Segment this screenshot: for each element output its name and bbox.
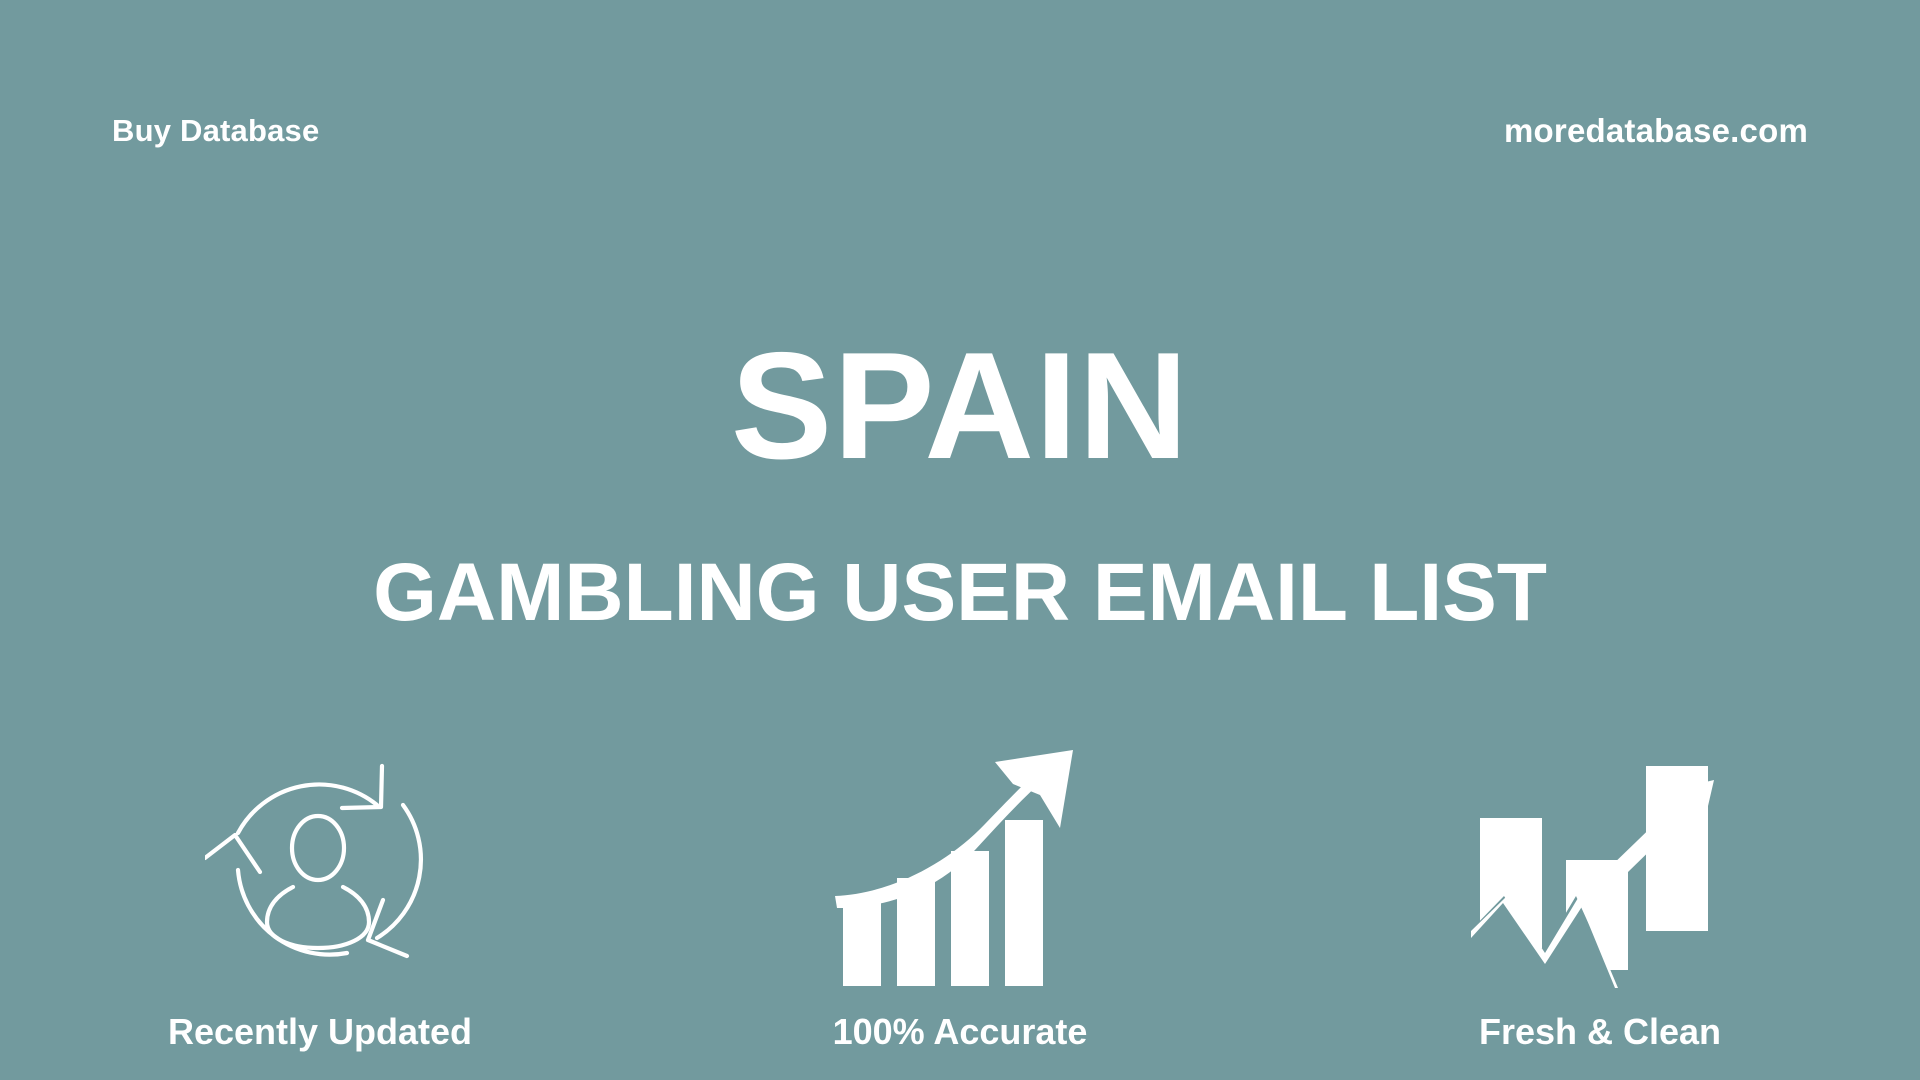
feature-row: Recently Updated: [0, 690, 1920, 1050]
recycle-person-icon: [205, 748, 435, 988]
feature-label-accurate: 100% Accurate: [833, 1014, 1088, 1050]
page-title: SPAIN: [0, 330, 1920, 482]
banner-header: Buy Database moredatabase.com: [0, 104, 1920, 156]
feature-icon-wrapper: [835, 738, 1085, 988]
feature-item-recently-updated: Recently Updated: [85, 738, 555, 1050]
feature-icon-wrapper: [1468, 738, 1733, 988]
feature-item-fresh-clean: Fresh & Clean: [1365, 738, 1835, 1050]
page-subtitle: GAMBLING USER EMAIL LIST: [0, 552, 1920, 634]
hero-title-block: SPAIN GAMBLING USER EMAIL LIST: [0, 330, 1920, 634]
feature-label-fresh-clean: Fresh & Clean: [1479, 1014, 1721, 1050]
bar-chart-zigzag-arrow-icon: [1468, 748, 1733, 988]
growth-bar-chart-arrow-icon: [835, 748, 1085, 988]
brand-label: Buy Database: [112, 115, 319, 146]
promo-banner: Buy Database moredatabase.com SPAIN GAMB…: [0, 0, 1920, 1080]
feature-icon-wrapper: [205, 738, 435, 988]
feature-label-recently-updated: Recently Updated: [168, 1014, 472, 1050]
feature-item-accurate: 100% Accurate: [725, 738, 1195, 1050]
website-url-label: moredatabase.com: [1504, 114, 1808, 147]
